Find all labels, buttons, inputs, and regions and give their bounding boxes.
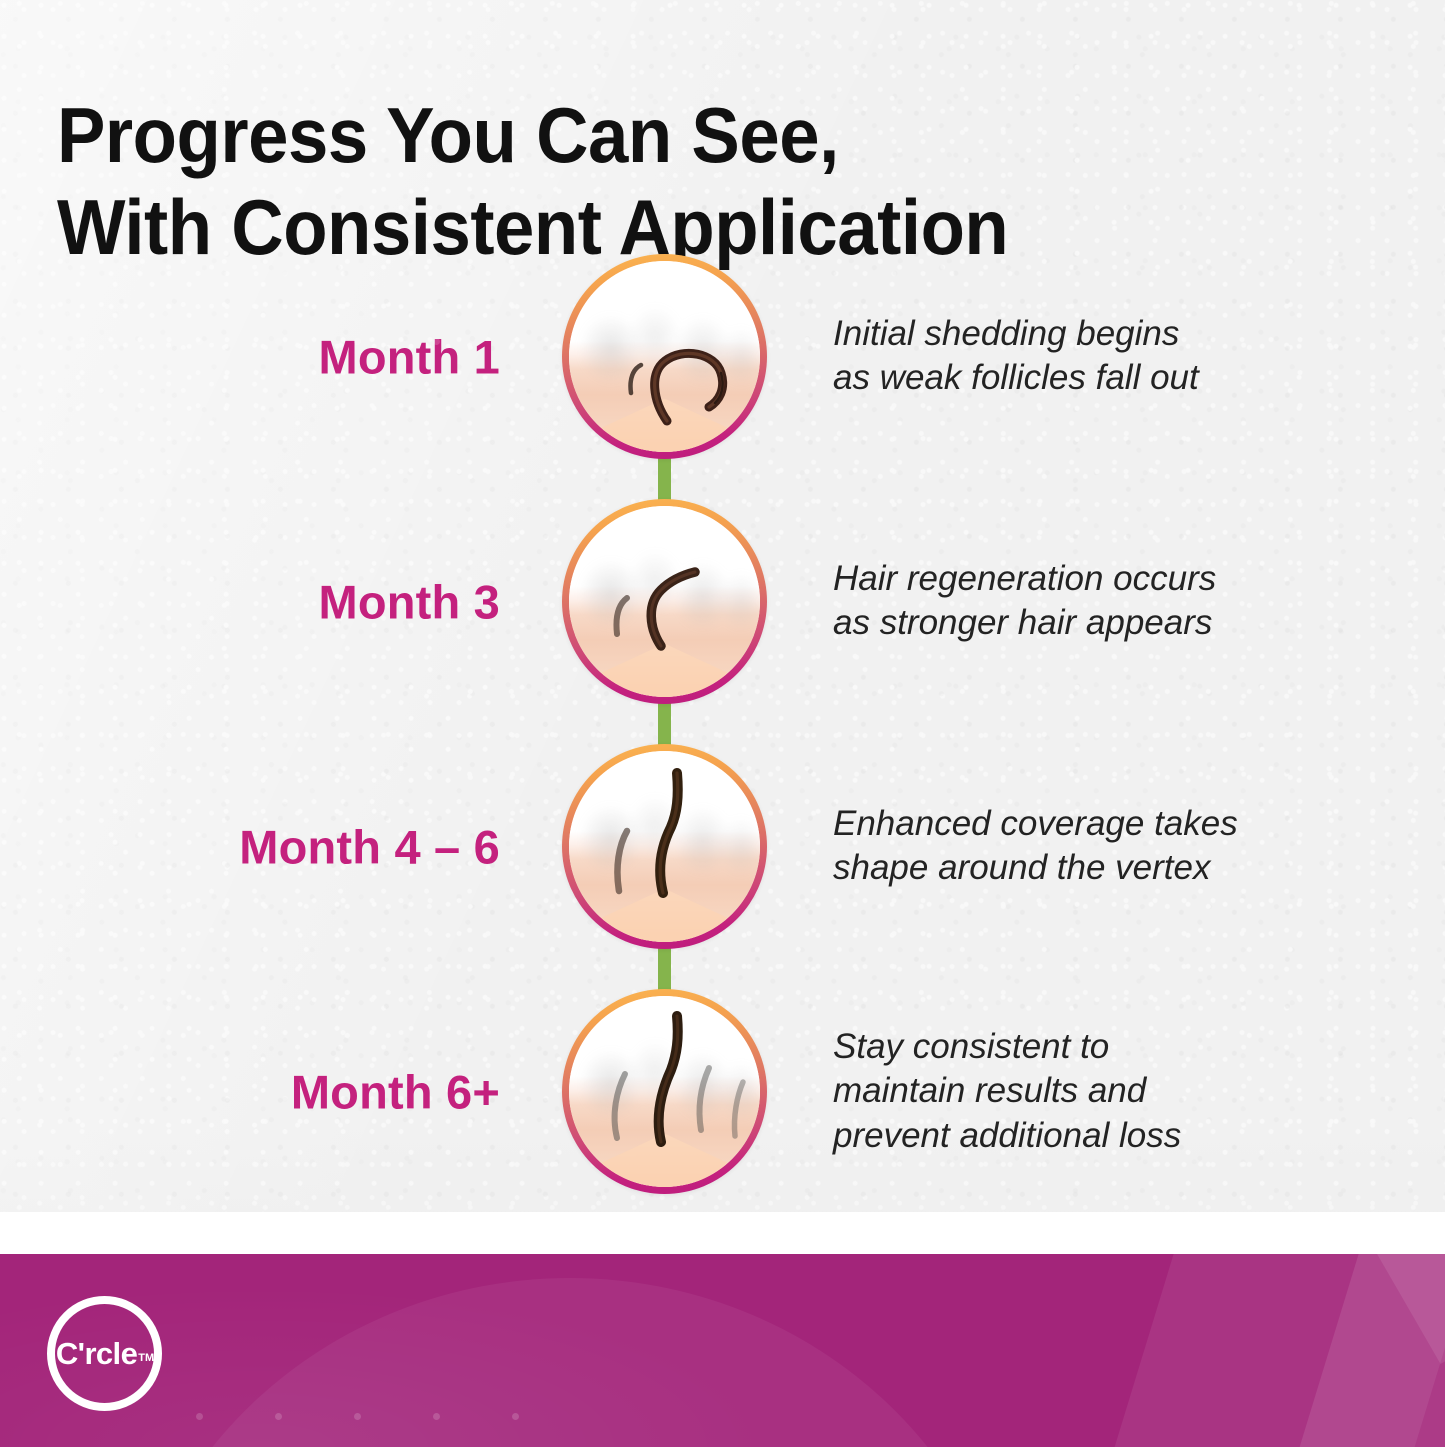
footer-dot-row: [196, 338, 519, 345]
skin-scene: [569, 506, 760, 697]
footer-dome-shape: [120, 1278, 1020, 1447]
follicle-illustration: [562, 499, 767, 704]
timeline-step: Month 6+: [0, 989, 1445, 1194]
footer-dot-row: [196, 1413, 519, 1420]
decorative-dot: [433, 338, 440, 345]
timeline-connector: [658, 942, 671, 992]
follicle-illustration: [562, 744, 767, 949]
brand-logo[interactable]: C'rcleTM: [47, 1296, 162, 1411]
decorative-dot: [512, 1413, 519, 1420]
progress-timeline: Month 1 Initi: [0, 240, 1445, 1210]
decorative-dot: [196, 338, 203, 345]
white-divider-band: [0, 1212, 1445, 1254]
timeline-step-description: Enhanced coverage takes shape around the…: [833, 802, 1373, 892]
footer-diagonal-band: [1279, 1254, 1445, 1447]
timeline-step: Month 4 – 6 Enhanced coverag: [0, 744, 1445, 949]
logo-name: C'rcle: [56, 1336, 137, 1372]
decorative-dot: [433, 1413, 440, 1420]
follicle-illustration: [562, 989, 767, 1194]
timeline-step-description: Stay consistent to maintain results and …: [833, 1024, 1373, 1158]
decorative-dot: [196, 1413, 203, 1420]
decorative-dot: [354, 1413, 361, 1420]
logo-wordmark: C'rcleTM: [47, 1296, 162, 1411]
gradient-ring: [562, 744, 767, 949]
timeline-step-description: Hair regeneration occurs as stronger hai…: [833, 557, 1373, 647]
gradient-ring: [562, 989, 767, 1194]
timeline-connector: [658, 452, 671, 502]
skin-scene: [569, 751, 760, 942]
decorative-dot: [354, 338, 361, 345]
timeline-step-description: Initial shedding begins as weak follicle…: [833, 312, 1373, 402]
skin-scene: [569, 996, 760, 1187]
timeline-step-month: Month 3: [40, 574, 500, 629]
gradient-ring: [562, 499, 767, 704]
hair-follicle-icon: [569, 261, 760, 452]
follicle-illustration: [562, 254, 767, 459]
decorative-dot: [275, 338, 282, 345]
logo-trademark: TM: [138, 1352, 154, 1364]
footer-diagonal-band: [1094, 1254, 1445, 1447]
hair-follicle-icon: [569, 751, 760, 942]
timeline-connector: [658, 697, 671, 747]
decorative-dot: [512, 338, 519, 345]
timeline-step: Month 3 Hair regeneration oc: [0, 499, 1445, 704]
skin-scene: [569, 261, 760, 452]
timeline-step: Month 1 Initi: [0, 254, 1445, 459]
timeline-step-month: Month 6+: [40, 1064, 500, 1119]
timeline-step-month: Month 4 – 6: [40, 819, 500, 874]
gradient-ring: [562, 254, 767, 459]
hair-follicle-icon: [569, 506, 760, 697]
decorative-dot: [275, 1413, 282, 1420]
infographic-page: Progress You Can See, With Consistent Ap…: [0, 0, 1445, 1447]
footer-diagonal-band: [1366, 1254, 1445, 1364]
hair-follicle-icon: [569, 996, 760, 1187]
